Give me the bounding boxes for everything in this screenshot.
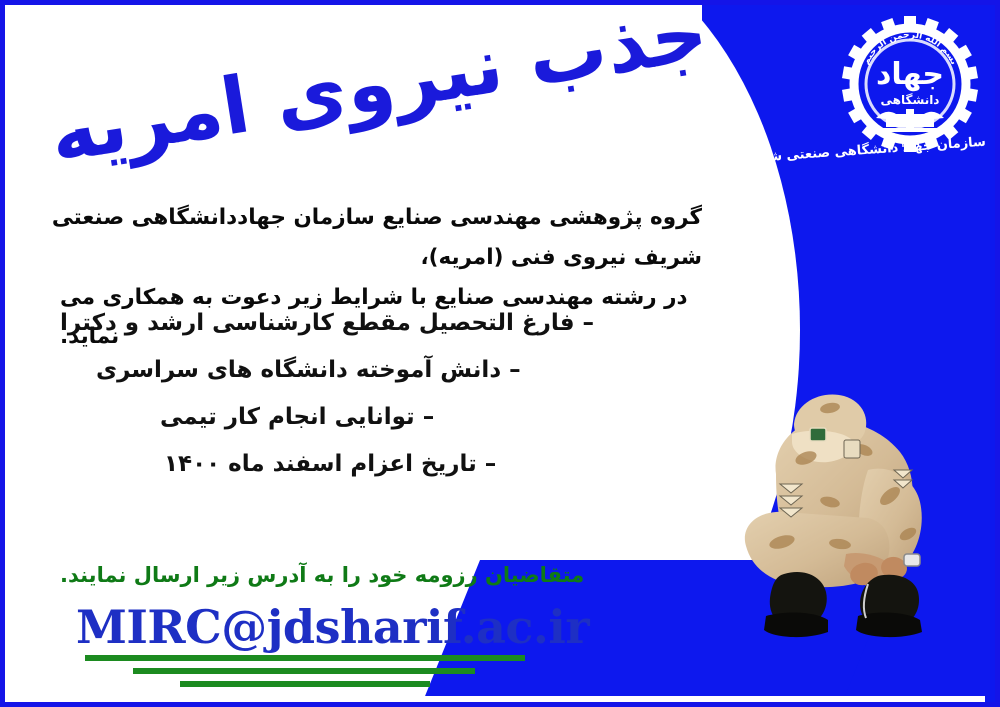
- intro-paragraph-line-1: گروه پژوهشی مهندسی صنایع سازمان جهاددانش…: [52, 205, 702, 270]
- green-bar: [85, 655, 525, 661]
- logo-main-word: جهاد: [876, 57, 944, 92]
- green-accent-bars: [0, 655, 700, 705]
- crouching-soldier-photo: [718, 378, 968, 646]
- jahad-daneshgahi-gear-logo: بسم الله الرحمن الرحیم جهاد دانشگاهی ۱۳۵…: [830, 6, 990, 186]
- list-item: – توانایی انجام کار تیمی: [60, 406, 660, 429]
- recruitment-poster: جذب نیروی امریه گروه پژوهشی مهندسی صنایع…: [0, 0, 1000, 707]
- requirements-list: – فارغ التحصیل مقطع کارشناسی ارشد و دکتر…: [60, 312, 660, 500]
- list-item: – فارغ التحصیل مقطع کارشناسی ارشد و دکتر…: [60, 312, 660, 335]
- contact-instruction: متقاضیان رزومه خود را به آدرس زیر ارسال …: [60, 563, 680, 587]
- contact-email[interactable]: MIRC@jdsharif.ac.ir: [76, 600, 696, 654]
- green-bar: [133, 668, 475, 674]
- list-item: – تاریخ اعزام اسفند ماه ۱۴۰۰: [60, 453, 660, 476]
- logo-sub-word: دانشگاهی: [881, 93, 940, 107]
- green-bar: [180, 681, 430, 687]
- list-item: – دانش آموخته دانشگاه های سراسری: [60, 359, 660, 382]
